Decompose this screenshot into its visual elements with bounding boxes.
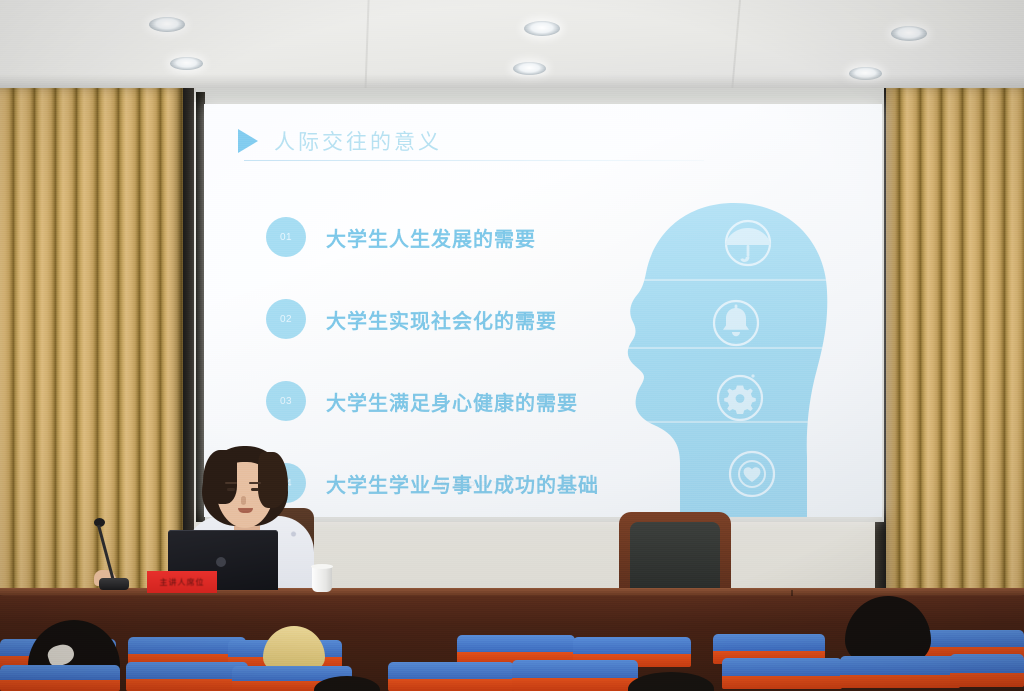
lecture-hall-photo: 人际交往的意义 01 大学生人生发展的需要 02 大学生实现社会化的需要 03 … xyxy=(0,0,1024,691)
seat xyxy=(126,662,248,691)
presenter-nose xyxy=(241,496,246,505)
seat-back xyxy=(457,635,575,652)
bullet-number-badge: 01 xyxy=(266,217,306,257)
slide-watermark: 锐普PPT xyxy=(436,477,504,493)
seat xyxy=(950,654,1024,687)
slide-title: 人际交往的意义 xyxy=(274,126,442,156)
recessed-downlight xyxy=(170,57,203,70)
presenter-eyebrow-left xyxy=(225,482,237,484)
seat-back xyxy=(0,665,120,680)
seat-band xyxy=(722,676,842,689)
seat xyxy=(722,658,842,689)
seat-back xyxy=(950,654,1024,673)
slide-title-row: 人际交往的意义 xyxy=(238,126,442,156)
recessed-downlight xyxy=(149,17,185,32)
seat-band xyxy=(0,680,120,691)
seat xyxy=(388,662,514,691)
bullet-label: 大学生人生发展的需要 xyxy=(326,223,536,252)
seat-back xyxy=(713,634,825,651)
presenter-eye-right xyxy=(251,488,259,491)
bullet-label: 大学生实现社会化的需要 xyxy=(326,305,557,334)
seat-band xyxy=(388,679,514,691)
seat-band xyxy=(512,678,638,691)
bullet-number-badge: 03 xyxy=(266,381,306,421)
seat xyxy=(512,660,638,691)
seat xyxy=(0,665,120,691)
empty-chair xyxy=(619,512,731,592)
bullet-number-badge: 02 xyxy=(266,299,306,339)
ceiling xyxy=(0,0,1024,92)
chair-cushion xyxy=(630,522,720,590)
seat-back xyxy=(512,660,638,678)
triangle-bullet-icon xyxy=(238,129,258,153)
seat-back xyxy=(722,658,842,676)
seat xyxy=(840,656,960,688)
presenter-eyebrow-right xyxy=(249,482,261,484)
seat-back xyxy=(126,662,248,679)
presenter-hair-front-right xyxy=(258,452,288,508)
microphone-base xyxy=(99,578,129,590)
presenter-eye-left xyxy=(227,488,235,491)
wood-slat-panel-left xyxy=(0,88,183,600)
presenter-hair-front-left xyxy=(203,450,237,504)
bullet-label: 大学生满足身心健康的需要 xyxy=(326,387,578,416)
nameplate: 主讲人席位 xyxy=(147,571,217,593)
seat-band xyxy=(950,673,1024,687)
seat-band xyxy=(126,679,248,691)
laptop-logo xyxy=(216,557,226,567)
recessed-downlight xyxy=(524,21,560,36)
seat-band xyxy=(840,675,960,688)
paper-cup-rim xyxy=(311,564,333,569)
wood-slat-panel-right xyxy=(886,88,1024,600)
title-underline xyxy=(244,160,704,161)
nameplate-text: 主讲人席位 xyxy=(160,577,205,588)
seat-back xyxy=(388,662,514,679)
paper-cup xyxy=(312,566,332,592)
seat-back xyxy=(840,656,960,675)
recessed-downlight xyxy=(891,26,927,41)
seat-back xyxy=(573,637,691,654)
head-silhouette-graphic xyxy=(606,195,864,517)
